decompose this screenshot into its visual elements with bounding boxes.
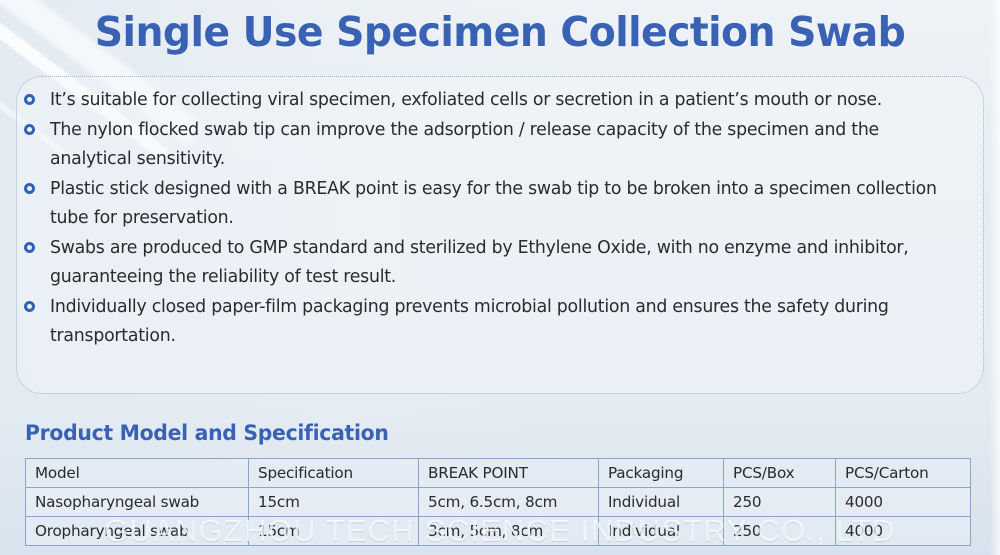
- page-title: Single Use Specimen Collection Swab: [20, 8, 980, 56]
- feature-text: Plastic stick designed with a BREAK poin…: [50, 175, 962, 233]
- column-header-pcs-carton: PCS/Carton: [836, 459, 971, 488]
- cell-pcs-box: 250: [724, 488, 836, 517]
- feature-text: Swabs are produced to GMP standard and s…: [50, 234, 962, 292]
- column-header-pcs-box: PCS/Box: [724, 459, 836, 488]
- cell-pcs-carton: 4000: [836, 488, 971, 517]
- list-item: Plastic stick designed with a BREAK poin…: [24, 175, 976, 233]
- cell-model: Oropharyngeal swab: [26, 517, 249, 546]
- ring-bullet-icon: [24, 293, 50, 317]
- column-header-model: Model: [26, 459, 249, 488]
- feature-list: It’s suitable for collecting viral speci…: [24, 86, 976, 352]
- cell-model: Nasopharyngeal swab: [26, 488, 249, 517]
- column-header-specification: Specification: [249, 459, 419, 488]
- cell-packaging: Individual: [599, 517, 724, 546]
- ring-bullet-icon: [24, 116, 50, 140]
- cell-pcs-box: 250: [724, 517, 836, 546]
- list-item: Individually closed paper-film packaging…: [24, 293, 976, 351]
- list-item: It’s suitable for collecting viral speci…: [24, 86, 976, 115]
- feature-text: Individually closed paper-film packaging…: [50, 293, 962, 351]
- column-header-break-point: BREAK POINT: [419, 459, 599, 488]
- cell-specification: 15cm: [249, 488, 419, 517]
- cell-break-point: 5cm, 6.5cm, 8cm: [419, 488, 599, 517]
- list-item: Swabs are produced to GMP standard and s…: [24, 234, 976, 292]
- column-header-packaging: Packaging: [599, 459, 724, 488]
- right-edge-highlight: [990, 0, 1000, 555]
- cell-specification: 15cm: [249, 517, 419, 546]
- cell-pcs-carton: 4000: [836, 517, 971, 546]
- table-row: Oropharyngeal swab 15cm 3cm, 5cm, 8cm In…: [26, 517, 971, 546]
- section-heading: Product Model and Specification: [25, 421, 389, 445]
- feature-text: The nylon flocked swab tip can improve t…: [50, 116, 962, 174]
- ring-bullet-icon: [24, 234, 50, 258]
- cell-break-point: 3cm, 5cm, 8cm: [419, 517, 599, 546]
- table-header-row: Model Specification BREAK POINT Packagin…: [26, 459, 971, 488]
- table-row: Nasopharyngeal swab 15cm 5cm, 6.5cm, 8cm…: [26, 488, 971, 517]
- list-item: The nylon flocked swab tip can improve t…: [24, 116, 976, 174]
- ring-bullet-icon: [24, 86, 50, 110]
- ring-bullet-icon: [24, 175, 50, 199]
- cell-packaging: Individual: [599, 488, 724, 517]
- feature-text: It’s suitable for collecting viral speci…: [50, 86, 962, 115]
- specification-table: Model Specification BREAK POINT Packagin…: [25, 458, 971, 546]
